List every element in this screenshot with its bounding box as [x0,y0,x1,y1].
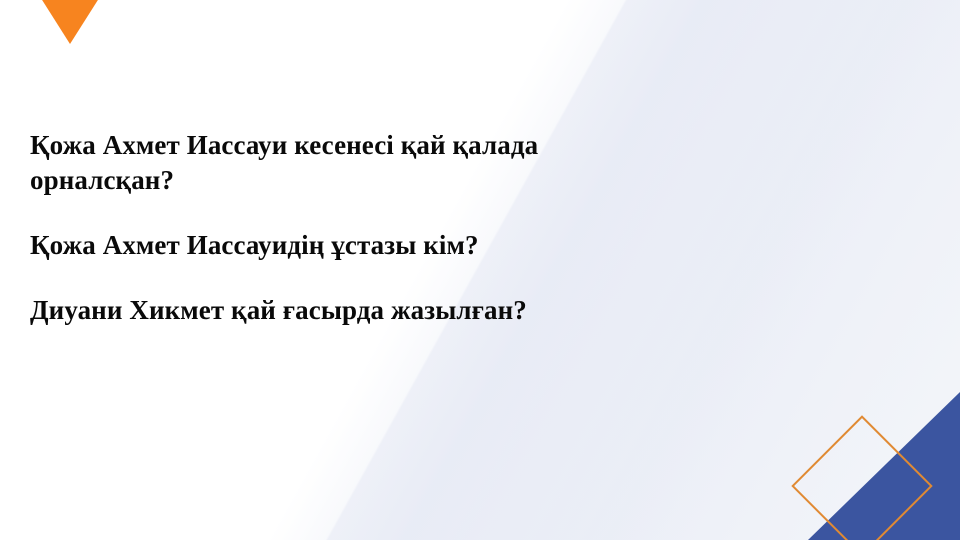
slide-content: Қожа Ахмет Иассауи кесенесі қай қалада о… [30,128,800,328]
question-1-line-1: Қожа Ахмет Иассауи кесенесі қай қалада [30,128,730,163]
blue-triangle-icon [808,392,960,540]
question-item-3: Диуани Хикмет қай ғасырда жазылған? [30,293,800,328]
question-3-line-1: Диуани Хикмет қай ғасырда жазылған? [30,293,800,328]
presentation-slide: Қожа Ахмет Иассауи кесенесі қай қалада о… [0,0,960,540]
orange-triangle-icon [18,0,122,44]
orange-diamond-icon [791,415,932,540]
question-item-1: Қожа Ахмет Иассауи кесенесі қай қалада о… [30,128,800,198]
question-item-2: Қожа Ахмет Иассауидің ұстазы кім? [30,228,800,263]
question-2-line-1: Қожа Ахмет Иассауидің ұстазы кім? [30,228,800,263]
question-1-line-2: орналсқан? [30,163,730,198]
